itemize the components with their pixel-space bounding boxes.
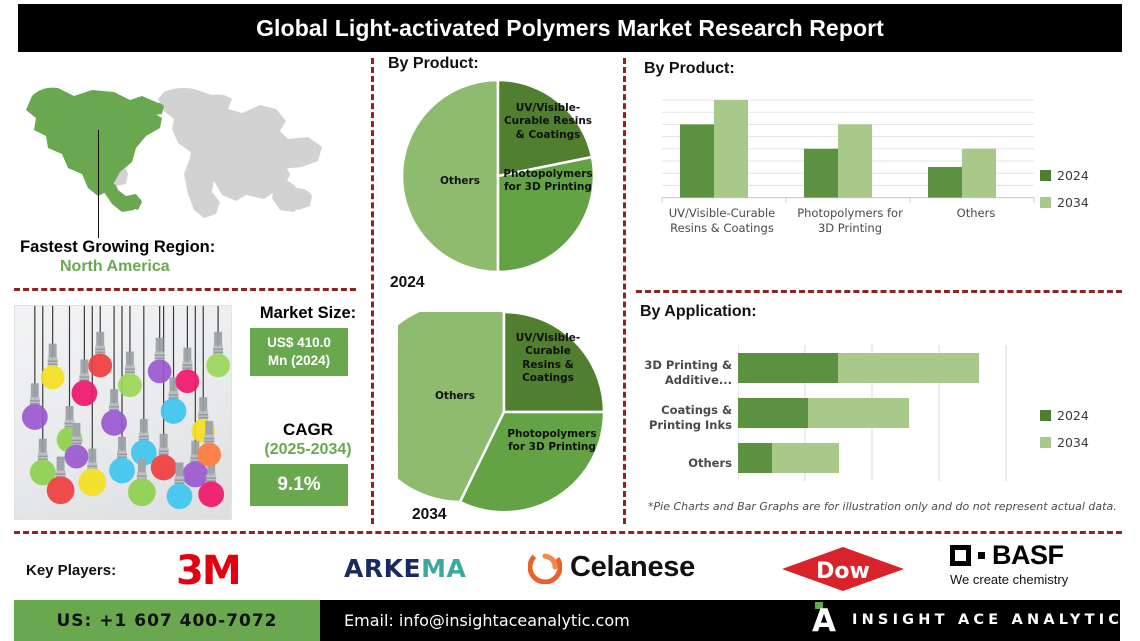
logo-basf-text: BASF: [992, 540, 1064, 571]
legend-swatch-2034: [1040, 197, 1051, 208]
pie-2034-label-uv: UV/Visible-Curable Resins & Coatings: [508, 332, 588, 386]
legend-item-2024: 2024: [1040, 168, 1089, 183]
basf-mark: BASF: [950, 540, 1064, 571]
app-legend-swatch-2024: [1040, 410, 1051, 421]
bar-category-label-0: UV/Visible-Curable Resins & Coatings: [658, 206, 786, 235]
logo-arkema-text-teal: MA: [421, 554, 466, 583]
fastest-growing-region-label: Fastest Growing Region:: [20, 238, 215, 257]
map-leader-line: [98, 130, 99, 238]
app-chart-legend: 2024 2034: [1040, 408, 1089, 462]
iaa-monogram-letter: A: [812, 606, 836, 637]
app-legend-swatch-2034: [1040, 437, 1051, 448]
app-legend-item-2034: 2034: [1040, 435, 1089, 450]
key-players-label: Key Players:: [26, 562, 116, 579]
page-title: Global Light-activated Polymers Market R…: [256, 15, 884, 42]
legend-swatch-2024: [1040, 170, 1051, 181]
pie-section-title: By Product:: [388, 55, 479, 73]
celanese-swirl-icon: [528, 550, 562, 584]
app-chart-title: By Application:: [640, 303, 757, 321]
cagr-years: (2025-2034): [248, 441, 368, 459]
app-category-label-0-line2: Additive...: [636, 373, 732, 388]
market-size-line2: Mn (2024): [268, 352, 330, 370]
iaa-monogram-icon: A: [812, 602, 838, 638]
market-size-title: Market Size:: [248, 304, 368, 323]
app-category-label-1: Coatings & Printing Inks: [636, 403, 732, 432]
app-legend-label-2034: 2034: [1057, 435, 1089, 450]
bar-category-label-1-line2: 3D Printing: [786, 221, 914, 236]
insight-ace-analytic-logo: A INSIGHT ACE ANALYTIC: [812, 602, 1123, 638]
app-category-label-1-line1: Coatings &: [636, 403, 732, 418]
pie-2024-year: 2024: [390, 274, 424, 292]
divider-horizontal-left: [14, 288, 356, 291]
bar-category-label-0-line2: Resins & Coatings: [658, 221, 786, 236]
world-map: [14, 70, 354, 230]
app-category-label-2: Others: [636, 456, 732, 471]
report-title-bar: Global Light-activated Polymers Market R…: [18, 4, 1122, 52]
iaa-brand-name: INSIGHT ACE ANALYTIC: [852, 612, 1123, 628]
logo-3m-text: 3M: [176, 548, 240, 594]
app-legend-label-2024: 2024: [1057, 408, 1089, 423]
fastest-growing-region-value: North America: [60, 258, 170, 276]
cagr-value-box: 9.1%: [250, 464, 348, 506]
pie-2034-year: 2034: [412, 506, 446, 524]
logo-dow: Dow: [780, 545, 906, 593]
email-text: Email: info@insightaceanalytic.com: [344, 611, 630, 630]
app-category-label-0: 3D Printing & Additive...: [636, 358, 732, 387]
divider-vertical-left: [371, 58, 374, 524]
basf-square-icon: [950, 545, 971, 566]
bar-chart-title: By Product:: [644, 60, 735, 78]
infographic-page: Global Light-activated Polymers Market R…: [0, 0, 1140, 641]
pie-2034-label-others: Others: [420, 390, 490, 403]
divider-vertical-right: [623, 58, 626, 524]
svg-text:Dow: Dow: [816, 559, 870, 584]
legend-item-2034: 2034: [1040, 195, 1089, 210]
app-legend-item-2024: 2024: [1040, 408, 1089, 423]
cagr-value: 9.1%: [277, 474, 320, 496]
app-category-label-2-line1: Others: [636, 456, 732, 471]
bar-chart-legend: 2024 2034: [1040, 168, 1089, 222]
basf-dot-icon: [978, 552, 985, 559]
cagr-title: CAGR: [248, 420, 368, 440]
bar-category-label-2: Others: [912, 206, 1040, 221]
logo-arkema-text-dark: ARKE: [344, 554, 421, 583]
divider-horizontal-right: [636, 290, 1122, 293]
pie-2024-label-photopolymers: Photopolymers for 3D Printing: [498, 168, 598, 195]
logo-basf: BASF We create chemistry: [950, 540, 1068, 587]
legend-label-2024: 2024: [1057, 168, 1089, 183]
phone-bar: US: +1 607 400-7072: [14, 600, 320, 641]
phone-text: US: +1 607 400-7072: [56, 611, 277, 631]
logo-arkema: ARKEMA: [344, 554, 466, 583]
pie-2024-label-others: Others: [425, 175, 495, 188]
lightbulbs-image: [14, 305, 232, 520]
divider-horizontal-bottom: [14, 531, 1122, 534]
logo-3m: 3M: [176, 548, 240, 594]
app-category-label-1-line2: Printing Inks: [636, 418, 732, 433]
bar-chart-by-application: [738, 345, 1038, 485]
app-category-label-0-line1: 3D Printing &: [636, 358, 732, 373]
market-size-line1: US$ 410.0: [267, 334, 331, 352]
logo-basf-tagline: We create chemistry: [950, 572, 1068, 587]
legend-label-2034: 2034: [1057, 195, 1089, 210]
chart-disclaimer: *Pie Charts and Bar Graphs are for illus…: [648, 500, 1117, 513]
pie-2034-label-photopolymers: Photopolymers for 3D Printing: [500, 428, 604, 455]
bar-category-label-1: Photopolymers for 3D Printing: [786, 206, 914, 235]
logo-celanese: Celanese: [528, 550, 695, 584]
market-size-value-box: US$ 410.0 Mn (2024): [250, 328, 348, 376]
bar-category-label-1-line1: Photopolymers for: [786, 206, 914, 221]
logo-celanese-text: Celanese: [570, 551, 695, 584]
bar-category-label-2-line1: Others: [912, 206, 1040, 221]
pie-2024-label-uv: UV/Visible-Curable Resins & Coatings: [500, 102, 596, 142]
bar-category-label-0-line1: UV/Visible-Curable: [658, 206, 786, 221]
